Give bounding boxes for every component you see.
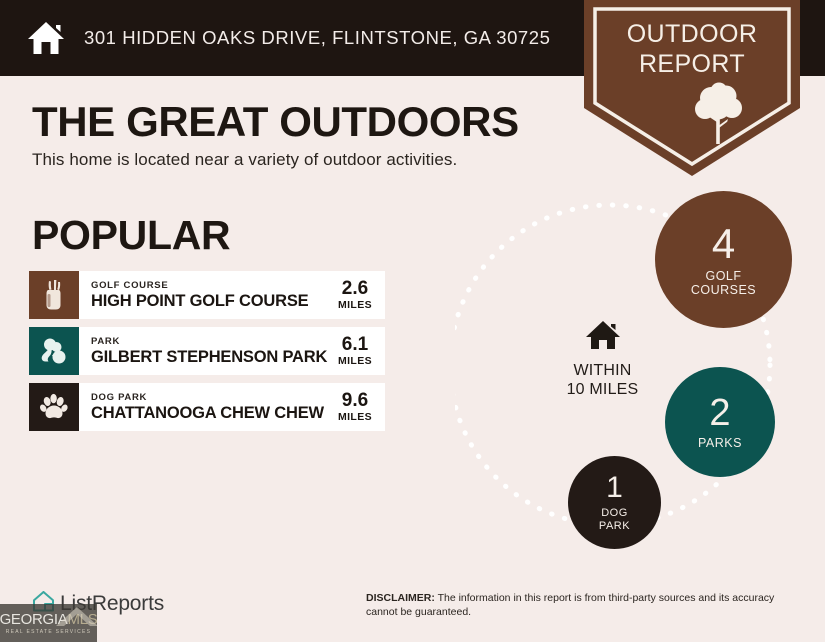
home-icon	[540, 320, 665, 355]
list-item-distance: 6.1 MILES	[329, 327, 385, 375]
list-item[interactable]: GOLF COURSE HIGH POINT GOLF COURSE 2.6 M…	[29, 271, 385, 319]
disclaimer: DISCLAIMER: The information in this repo…	[366, 592, 798, 619]
list-item-distance: 2.6 MILES	[329, 271, 385, 319]
badge-title: OUTDOOR REPORT	[584, 19, 800, 79]
badge-title-line1: OUTDOOR	[584, 19, 800, 49]
georgia-mls-watermark: GEORGIAMLS REAL ESTATE SERVICES	[0, 604, 97, 642]
dog-park-count: 1	[606, 473, 623, 503]
mls-tagline: REAL ESTATE SERVICES	[6, 629, 92, 635]
stat-bubble-parks[interactable]: 2 PARKS	[665, 367, 775, 477]
center-line2: 10 MILES	[540, 380, 665, 399]
golf-courses-label: GOLF COURSES	[691, 269, 756, 297]
list-item-distance: 9.6 MILES	[329, 383, 385, 431]
list-item-category: DOG PARK	[91, 392, 329, 404]
parks-label: PARKS	[698, 436, 742, 450]
golf-courses-count: 4	[712, 223, 735, 265]
list-item-category: PARK	[91, 336, 329, 348]
page-title: THE GREAT OUTDOORS	[32, 98, 519, 146]
distance-unit: MILES	[338, 355, 372, 368]
popular-list: GOLF COURSE HIGH POINT GOLF COURSE 2.6 M…	[29, 271, 385, 439]
list-item-text: GOLF COURSE HIGH POINT GOLF COURSE	[79, 271, 329, 319]
property-address: 301 HIDDEN OAKS DRIVE, FLINTSTONE, GA 30…	[84, 27, 550, 49]
list-item-text: PARK GILBERT STEPHENSON PARK	[79, 327, 329, 375]
list-item-name: GILBERT STEPHENSON PARK	[91, 348, 329, 367]
diagram-center-label: WITHIN 10 MILES	[540, 320, 665, 399]
parks-count: 2	[709, 394, 730, 432]
home-icon	[24, 18, 68, 58]
center-line1: WITHIN	[540, 361, 665, 380]
disclaimer-label: DISCLAIMER:	[366, 592, 435, 604]
outdoor-report-page: 301 HIDDEN OAKS DRIVE, FLINTSTONE, GA 30…	[0, 0, 825, 642]
list-item-name: HIGH POINT GOLF COURSE	[91, 292, 329, 311]
dog-park-label: DOG PARK	[599, 507, 630, 532]
page-subtitle: This home is located near a variety of o…	[32, 150, 457, 170]
golf-bag-icon	[29, 271, 79, 319]
distance-unit: MILES	[338, 299, 372, 312]
paw-print-icon	[29, 383, 79, 431]
park-trees-icon	[29, 327, 79, 375]
distance-value: 6.1	[342, 335, 368, 355]
outdoor-report-badge: OUTDOOR REPORT	[584, 0, 800, 176]
popular-section-title: POPULAR	[32, 212, 230, 259]
list-item[interactable]: DOG PARK CHATTANOOGA CHEW CHEW 9.6 MILES	[29, 383, 385, 431]
distance-value: 9.6	[342, 391, 368, 411]
badge-title-line2: REPORT	[584, 49, 800, 79]
list-item-category: GOLF COURSE	[91, 280, 329, 292]
proximity-diagram: WITHIN 10 MILES 4 GOLF COURSES 2 PARKS 1…	[455, 180, 825, 550]
stat-bubble-golf-courses[interactable]: 4 GOLF COURSES	[655, 191, 792, 328]
distance-value: 2.6	[342, 279, 368, 299]
list-item[interactable]: PARK GILBERT STEPHENSON PARK 6.1 MILES	[29, 327, 385, 375]
mls-roof-icon	[52, 604, 97, 628]
list-item-text: DOG PARK CHATTANOOGA CHEW CHEW	[79, 383, 329, 431]
stat-bubble-dog-park[interactable]: 1 DOG PARK	[568, 456, 661, 549]
distance-unit: MILES	[338, 411, 372, 424]
list-item-name: CHATTANOOGA CHEW CHEW	[91, 404, 329, 423]
